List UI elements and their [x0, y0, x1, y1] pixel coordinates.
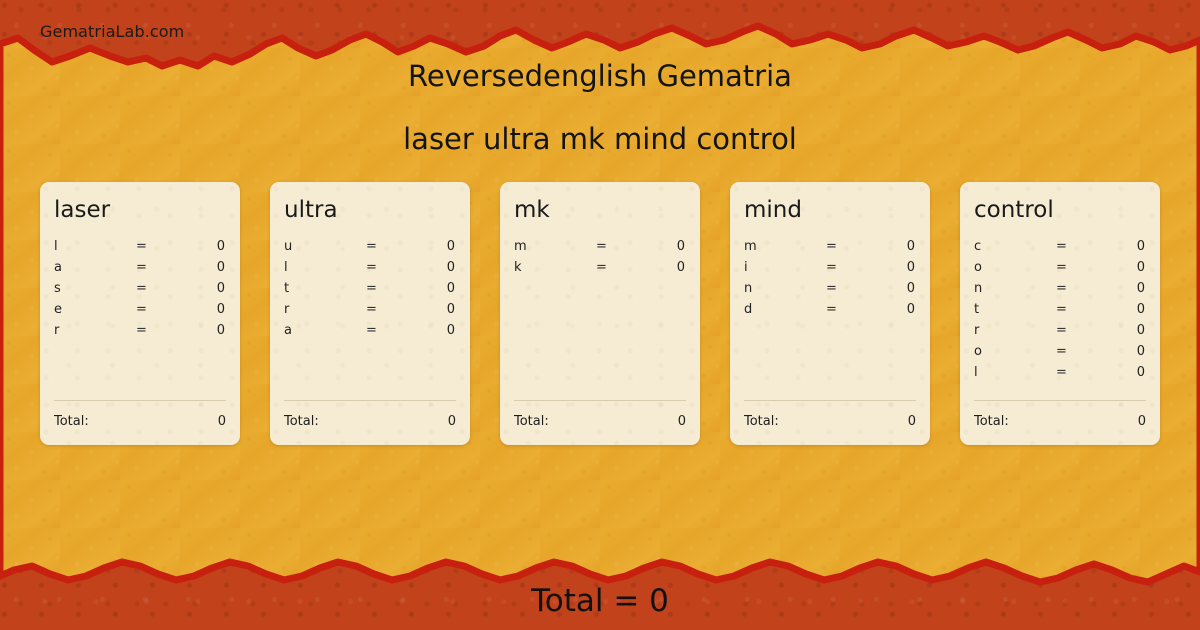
- letter-row: m=0: [514, 239, 686, 260]
- word-card-list: laserl=0a=0s=0e=0r=0Total:0ultrau=0l=0t=…: [40, 182, 1160, 445]
- letter-char: m: [514, 239, 596, 254]
- word-card: laserl=0a=0s=0e=0r=0Total:0: [40, 182, 240, 445]
- word-card-total-row: Total:0: [974, 414, 1146, 429]
- letter-value: 0: [1096, 302, 1146, 317]
- word-card-footer: Total:0: [514, 400, 686, 429]
- total-label: Total:: [744, 414, 779, 429]
- letter-char: d: [744, 302, 826, 317]
- letter-char: s: [54, 281, 136, 296]
- equals-sign: =: [826, 239, 866, 254]
- equals-sign: =: [136, 302, 176, 317]
- word-card-total-row: Total:0: [744, 414, 916, 429]
- letter-value: 0: [1096, 239, 1146, 254]
- equals-sign: =: [826, 260, 866, 275]
- total-label: Total:: [54, 414, 89, 429]
- letter-char: t: [284, 281, 366, 296]
- total-value: 0: [908, 414, 916, 429]
- letter-value: 0: [406, 323, 456, 338]
- letter-row: o=0: [974, 344, 1146, 365]
- letter-char: k: [514, 260, 596, 275]
- word-card-footer: Total:0: [284, 400, 456, 429]
- letter-row: r=0: [284, 302, 456, 323]
- equals-sign: =: [366, 323, 406, 338]
- equals-sign: =: [596, 239, 636, 254]
- letter-char: i: [744, 260, 826, 275]
- word-card-total-row: Total:0: [284, 414, 456, 429]
- footer-divider: [514, 400, 686, 401]
- total-label: Total:: [284, 414, 319, 429]
- letter-char: e: [54, 302, 136, 317]
- letter-row: o=0: [974, 260, 1146, 281]
- word-card-footer: Total:0: [974, 400, 1146, 429]
- equals-sign: =: [366, 281, 406, 296]
- equals-sign: =: [1056, 281, 1096, 296]
- letter-value: 0: [176, 260, 226, 275]
- grand-total: Total = 0: [0, 583, 1200, 619]
- letter-value: 0: [866, 239, 916, 254]
- equals-sign: =: [136, 260, 176, 275]
- letter-row: m=0: [744, 239, 916, 260]
- letter-row: r=0: [974, 323, 1146, 344]
- word-card-total-row: Total:0: [514, 414, 686, 429]
- word-card: ultrau=0l=0t=0r=0a=0Total:0: [270, 182, 470, 445]
- letter-row: t=0: [284, 281, 456, 302]
- letter-rows: u=0l=0t=0r=0a=0: [284, 239, 456, 344]
- word-card-title: laser: [54, 199, 226, 222]
- letter-value: 0: [866, 302, 916, 317]
- letter-row: e=0: [54, 302, 226, 323]
- letter-char: a: [54, 260, 136, 275]
- letter-row: a=0: [284, 323, 456, 344]
- letter-char: l: [54, 239, 136, 254]
- site-brand: GematriaLab.com: [40, 22, 184, 41]
- letter-value: 0: [866, 281, 916, 296]
- word-card-title: control: [974, 199, 1146, 222]
- poster-content: GematriaLab.com Reversedenglish Gematria…: [0, 0, 1200, 630]
- total-label: Total:: [514, 414, 549, 429]
- total-label: Total:: [974, 414, 1009, 429]
- letter-row: n=0: [744, 281, 916, 302]
- word-card-title: mk: [514, 199, 686, 222]
- letter-value: 0: [1096, 281, 1146, 296]
- equals-sign: =: [136, 281, 176, 296]
- letter-value: 0: [1096, 365, 1146, 380]
- equals-sign: =: [1056, 239, 1096, 254]
- equals-sign: =: [136, 239, 176, 254]
- letter-row: r=0: [54, 323, 226, 344]
- total-value: 0: [1138, 414, 1146, 429]
- total-value: 0: [218, 414, 226, 429]
- letter-value: 0: [406, 281, 456, 296]
- word-card-title: ultra: [284, 199, 456, 222]
- equals-sign: =: [366, 302, 406, 317]
- letter-rows: l=0a=0s=0e=0r=0: [54, 239, 226, 344]
- equals-sign: =: [826, 281, 866, 296]
- equals-sign: =: [596, 260, 636, 275]
- page-title: Reversedenglish Gematria: [0, 59, 1200, 93]
- letter-char: t: [974, 302, 1056, 317]
- letter-value: 0: [636, 260, 686, 275]
- letter-value: 0: [1096, 344, 1146, 359]
- letter-row: c=0: [974, 239, 1146, 260]
- letter-char: m: [744, 239, 826, 254]
- letter-char: n: [744, 281, 826, 296]
- footer-divider: [284, 400, 456, 401]
- letter-row: l=0: [284, 260, 456, 281]
- letter-value: 0: [176, 302, 226, 317]
- letter-row: t=0: [974, 302, 1146, 323]
- equals-sign: =: [366, 239, 406, 254]
- letter-row: l=0: [974, 365, 1146, 386]
- letter-value: 0: [176, 239, 226, 254]
- word-card: mkm=0k=0Total:0: [500, 182, 700, 445]
- letter-row: n=0: [974, 281, 1146, 302]
- letter-row: k=0: [514, 260, 686, 281]
- equals-sign: =: [1056, 260, 1096, 275]
- letter-char: u: [284, 239, 366, 254]
- letter-char: r: [54, 323, 136, 338]
- letter-value: 0: [636, 239, 686, 254]
- letter-value: 0: [1096, 323, 1146, 338]
- letter-value: 0: [406, 260, 456, 275]
- letter-rows: c=0o=0n=0t=0r=0o=0l=0: [974, 239, 1146, 386]
- word-card-footer: Total:0: [54, 400, 226, 429]
- equals-sign: =: [366, 260, 406, 275]
- footer-divider: [744, 400, 916, 401]
- letter-rows: m=0i=0n=0d=0: [744, 239, 916, 323]
- word-card-total-row: Total:0: [54, 414, 226, 429]
- equals-sign: =: [1056, 344, 1096, 359]
- equals-sign: =: [1056, 302, 1096, 317]
- letter-char: a: [284, 323, 366, 338]
- letter-value: 0: [406, 302, 456, 317]
- letter-char: r: [284, 302, 366, 317]
- letter-char: r: [974, 323, 1056, 338]
- letter-char: o: [974, 260, 1056, 275]
- word-card-title: mind: [744, 199, 916, 222]
- letter-char: o: [974, 344, 1056, 359]
- letter-char: l: [974, 365, 1056, 380]
- total-value: 0: [448, 414, 456, 429]
- equals-sign: =: [826, 302, 866, 317]
- total-value: 0: [678, 414, 686, 429]
- word-card: mindm=0i=0n=0d=0Total:0: [730, 182, 930, 445]
- letter-value: 0: [176, 323, 226, 338]
- letter-char: c: [974, 239, 1056, 254]
- letter-char: n: [974, 281, 1056, 296]
- letter-row: l=0: [54, 239, 226, 260]
- letter-value: 0: [176, 281, 226, 296]
- equals-sign: =: [136, 323, 176, 338]
- poster-canvas: GematriaLab.com Reversedenglish Gematria…: [0, 0, 1200, 630]
- word-card-footer: Total:0: [744, 400, 916, 429]
- letter-row: i=0: [744, 260, 916, 281]
- equals-sign: =: [1056, 365, 1096, 380]
- letter-char: l: [284, 260, 366, 275]
- letter-value: 0: [406, 239, 456, 254]
- footer-divider: [974, 400, 1146, 401]
- equals-sign: =: [1056, 323, 1096, 338]
- letter-value: 0: [1096, 260, 1146, 275]
- letter-value: 0: [866, 260, 916, 275]
- letter-rows: m=0k=0: [514, 239, 686, 281]
- footer-divider: [54, 400, 226, 401]
- letter-row: u=0: [284, 239, 456, 260]
- letter-row: a=0: [54, 260, 226, 281]
- phrase-subtitle: laser ultra mk mind control: [0, 122, 1200, 156]
- word-card: controlc=0o=0n=0t=0r=0o=0l=0Total:0: [960, 182, 1160, 445]
- letter-row: s=0: [54, 281, 226, 302]
- letter-row: d=0: [744, 302, 916, 323]
